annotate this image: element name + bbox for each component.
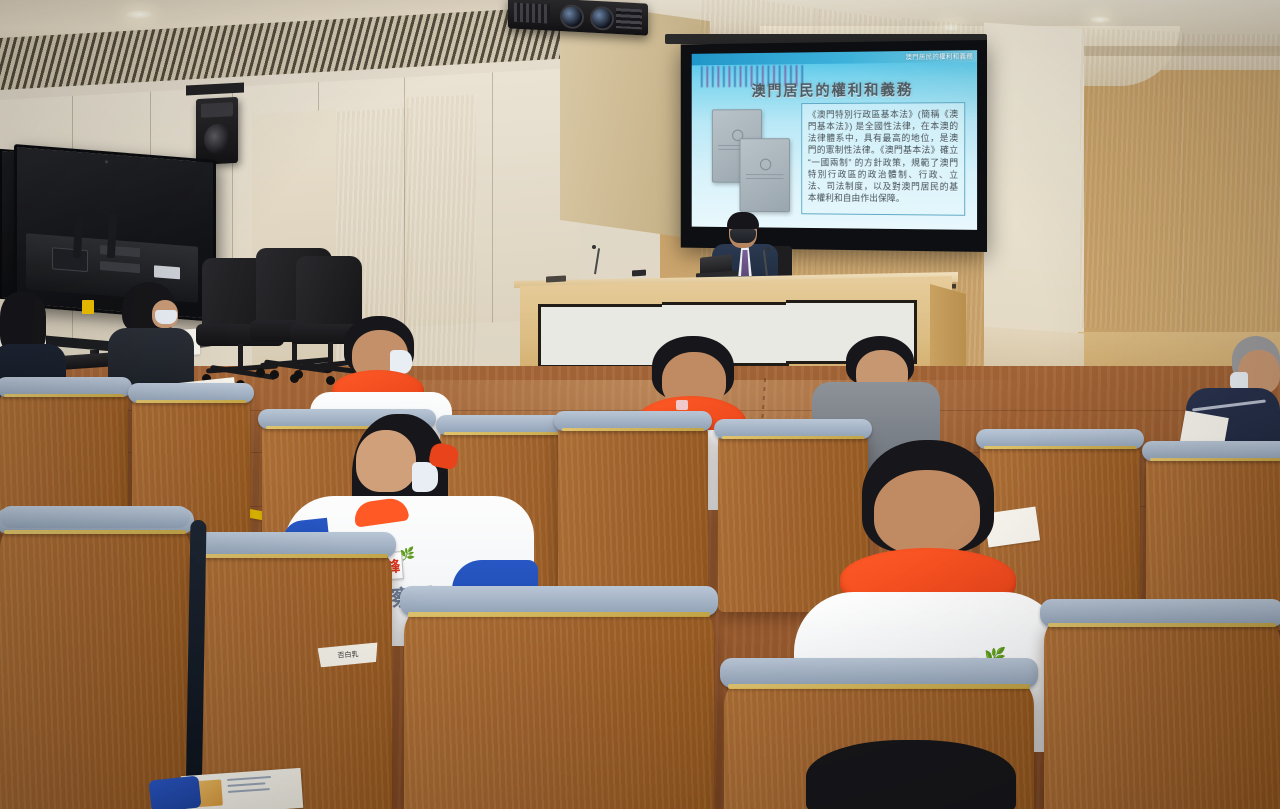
podium-nameplate xyxy=(546,275,566,282)
speaker-cone-icon xyxy=(204,123,230,154)
face-mask-icon xyxy=(155,310,177,324)
slide-header-bar: 澳門居民的權利和義務 xyxy=(692,50,977,65)
book-title-lines xyxy=(746,174,783,181)
attendee-sleeve xyxy=(148,775,201,809)
face-mask-icon xyxy=(730,229,756,243)
presentation-slide: 澳門居民的權利和義務 澳門居民的權利和義務 《澳門特別行政區基本法》(簡稱《澳門… xyxy=(692,50,977,230)
microphone-head-icon xyxy=(766,247,770,251)
slide-header-text: 澳門居民的權利和義務 xyxy=(906,50,974,61)
wood-wall-column xyxy=(1180,34,1280,344)
lecture-hall-photo: 澳門居民的權利和義務 澳門居民的權利和義務 《澳門特別行政區基本法》(簡稱《澳門… xyxy=(0,0,1280,809)
display-port-panel xyxy=(52,247,88,272)
ceiling-downlight xyxy=(126,10,152,19)
attendee-hair xyxy=(806,740,1016,809)
wood-wall-column xyxy=(1080,28,1184,332)
emblem-icon xyxy=(760,159,771,171)
auditorium-seat[interactable] xyxy=(1044,612,1280,809)
student-head xyxy=(356,430,416,492)
slide-book-image xyxy=(712,109,792,211)
auditorium-seat[interactable] xyxy=(558,420,708,602)
leaf-icon: 🌿 xyxy=(399,547,415,560)
speaker-tweeter xyxy=(201,102,233,118)
seat-cushion xyxy=(0,506,190,528)
projection-screen: 澳門居民的權利和義務 澳門居民的權利和義務 《澳門特別行政區基本法》(簡稱《澳門… xyxy=(681,40,987,252)
projector-lens-icon xyxy=(560,4,584,29)
basic-law-book xyxy=(740,138,790,212)
projector-lens-icon xyxy=(590,6,614,31)
wood-wall-column xyxy=(404,95,476,398)
student-head xyxy=(874,470,980,554)
slide-title: 澳門居民的權利和義務 xyxy=(692,78,977,101)
face-mask-icon xyxy=(412,462,438,492)
ceiling-downlight xyxy=(1090,16,1110,23)
podium-remote[interactable] xyxy=(632,270,646,277)
slide-body-text: 《澳門特別行政區基本法》(簡稱《澳門基本法》) 是全國性法律，在本澳的法律體系中… xyxy=(801,102,965,216)
projector-vent-grille xyxy=(514,3,550,24)
projector-side-panel xyxy=(616,8,642,29)
display-power-led xyxy=(105,160,108,163)
caution-sticker xyxy=(82,300,94,314)
microphone-head-icon xyxy=(592,245,596,249)
wall-loudspeaker xyxy=(196,97,238,165)
podium-panel xyxy=(538,304,668,368)
scarf-clip xyxy=(676,400,688,410)
presenter-hair xyxy=(727,212,759,229)
auditorium-seat[interactable] xyxy=(404,600,714,809)
cart-bracket xyxy=(100,261,140,273)
auditorium-seat[interactable] xyxy=(0,520,190,809)
